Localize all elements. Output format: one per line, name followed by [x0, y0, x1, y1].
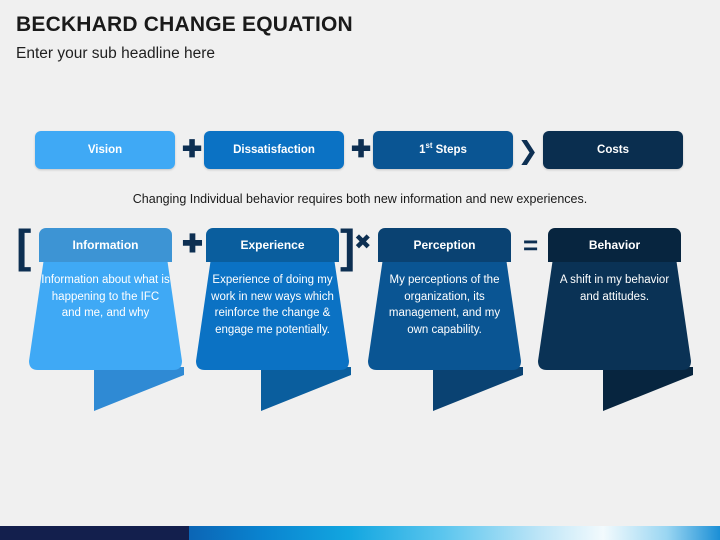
- footer-bar: [0, 526, 720, 540]
- ribbon-card-information[interactable]: Information Information about what is ha…: [27, 228, 184, 413]
- card-description: Information about what is happening to t…: [41, 272, 170, 322]
- card-title: Behavior: [589, 238, 640, 252]
- card-header: Behavior: [548, 228, 681, 262]
- chevron-right-icon: ❯: [513, 131, 543, 169]
- card-tail: [261, 367, 351, 411]
- card-header: Experience: [206, 228, 339, 262]
- ribbon-card-experience[interactable]: Experience Experience of doing my work i…: [194, 228, 351, 413]
- top-box-first-steps-label: 1st Steps: [419, 144, 467, 156]
- page-subtitle: Enter your sub headline here: [16, 45, 706, 64]
- top-box-vision-label: Vision: [88, 144, 122, 156]
- card-title: Experience: [240, 238, 304, 252]
- top-box-costs-label: Costs: [597, 144, 629, 156]
- card-description: Experience of doing my work in new ways …: [208, 272, 337, 339]
- card-title: Information: [73, 238, 139, 252]
- slide-header: BECKHARD CHANGE EQUATION Enter your sub …: [16, 12, 706, 64]
- card-tail: [94, 367, 184, 411]
- top-box-dissatisfaction-label: Dissatisfaction: [233, 144, 315, 156]
- ribbon-card-perception[interactable]: Perception My perceptions of the organiz…: [366, 228, 523, 413]
- card-description: A shift in my behavior and attitudes.: [550, 272, 679, 305]
- plus-icon: ✚: [182, 232, 203, 257]
- top-box-vision[interactable]: Vision: [35, 131, 175, 169]
- card-tail: [433, 367, 523, 411]
- card-description: My perceptions of the organization, its …: [380, 272, 509, 339]
- top-box-first-steps[interactable]: 1st Steps: [373, 131, 513, 169]
- multiply-icon: ✖: [354, 232, 372, 253]
- caption-text: Changing Individual behavior requires bo…: [0, 192, 720, 206]
- footer-navy-block: [0, 526, 189, 540]
- card-header: Perception: [378, 228, 511, 262]
- bottom-equation-row: [ Information Information about what is …: [0, 228, 720, 418]
- card-header: Information: [39, 228, 172, 262]
- card-tail: [603, 367, 693, 411]
- equals-icon: =: [523, 232, 538, 258]
- top-box-costs[interactable]: Costs: [543, 131, 683, 169]
- footer-gradient-block: [189, 526, 720, 540]
- top-box-dissatisfaction[interactable]: Dissatisfaction: [204, 131, 344, 169]
- ribbon-card-behavior[interactable]: Behavior A shift in my behavior and atti…: [536, 228, 693, 413]
- page-title: BECKHARD CHANGE EQUATION: [16, 12, 706, 38]
- top-equation-row: Vision ✚ Dissatisfaction ✚ 1st Steps ❯ C…: [0, 131, 720, 171]
- card-title: Perception: [413, 238, 475, 252]
- bracket-open-icon: [: [16, 223, 31, 269]
